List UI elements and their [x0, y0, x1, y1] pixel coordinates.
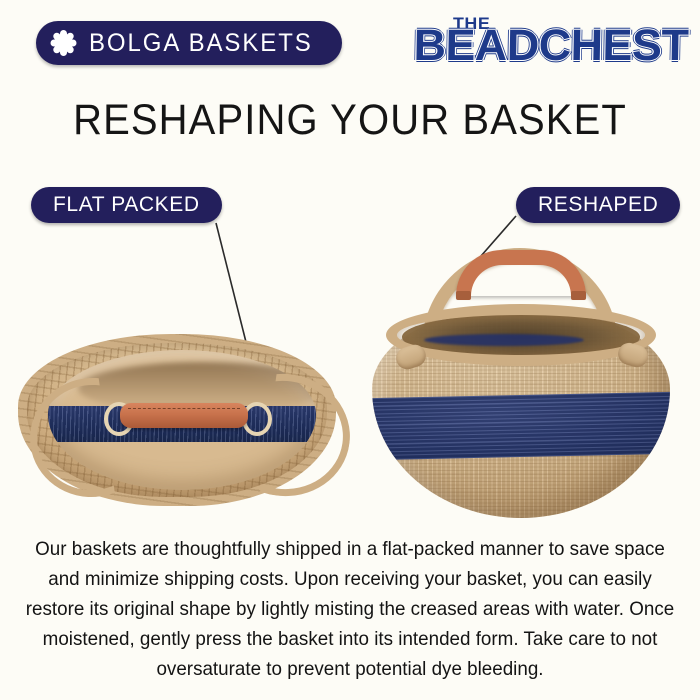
round-basket-leather-handle-wrap [456, 250, 586, 296]
reshaped-basket-photo [372, 248, 670, 518]
round-basket-navy-stripe [372, 392, 670, 461]
flat-packed-basket-photo [12, 330, 342, 520]
round-basket-rim [386, 304, 656, 366]
instruction-paragraph: Our baskets are thoughtfully shipped in … [26, 534, 674, 684]
infographic-page: BOLGA BASKETS THE BEADCHEST RESHAPING YO… [0, 0, 700, 700]
flat-basket-leather-handle [120, 403, 248, 428]
